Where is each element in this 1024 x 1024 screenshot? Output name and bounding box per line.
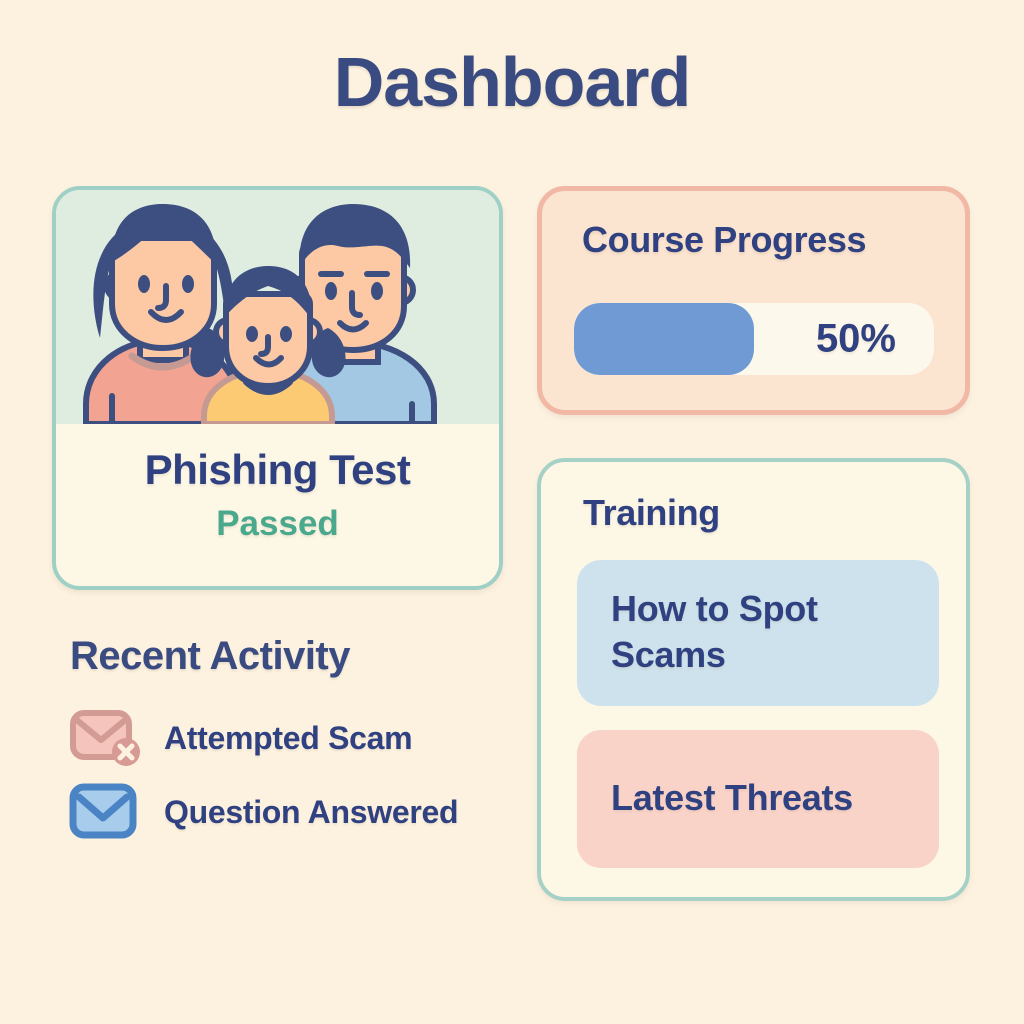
phishing-test-card[interactable]: Phishing Test Passed bbox=[52, 186, 503, 590]
training-card: Training How to Spot Scams Latest Threat… bbox=[537, 458, 970, 901]
envelope-error-icon bbox=[70, 709, 144, 767]
phishing-test-summary: Phishing Test Passed bbox=[56, 424, 499, 586]
training-heading: Training bbox=[583, 492, 720, 534]
training-item-label: Latest Threats bbox=[611, 775, 853, 821]
status-badge: Passed bbox=[216, 504, 339, 544]
training-item-latest-threats[interactable]: Latest Threats bbox=[577, 730, 939, 868]
list-item-label: Attempted Scam bbox=[164, 720, 412, 757]
progress-bar[interactable]: 50% bbox=[574, 303, 934, 375]
list-item-label: Question Answered bbox=[164, 794, 458, 831]
training-item-label: How to Spot Scams bbox=[611, 586, 905, 678]
recent-activity-section: Recent Activity Attempted Scam bbox=[70, 634, 570, 849]
dashboard-screen: Dashboard bbox=[0, 0, 1024, 1024]
progress-percent-label: 50% bbox=[816, 317, 896, 362]
progress-bar-fill bbox=[574, 303, 754, 375]
course-progress-heading: Course Progress bbox=[582, 219, 866, 261]
course-progress-card: Course Progress 50% bbox=[537, 186, 970, 415]
training-item-how-to-spot-scams[interactable]: How to Spot Scams bbox=[577, 560, 939, 706]
recent-activity-heading: Recent Activity bbox=[70, 634, 570, 679]
phishing-test-title: Phishing Test bbox=[145, 446, 411, 494]
list-item[interactable]: Attempted Scam bbox=[70, 701, 570, 775]
envelope-icon bbox=[70, 783, 144, 841]
family-illustration bbox=[56, 190, 499, 424]
page-title: Dashboard bbox=[0, 42, 1024, 122]
training-list: How to Spot Scams Latest Threats bbox=[577, 560, 939, 868]
recent-activity-list: Attempted Scam Question Answered bbox=[70, 701, 570, 849]
list-item[interactable]: Question Answered bbox=[70, 775, 570, 849]
